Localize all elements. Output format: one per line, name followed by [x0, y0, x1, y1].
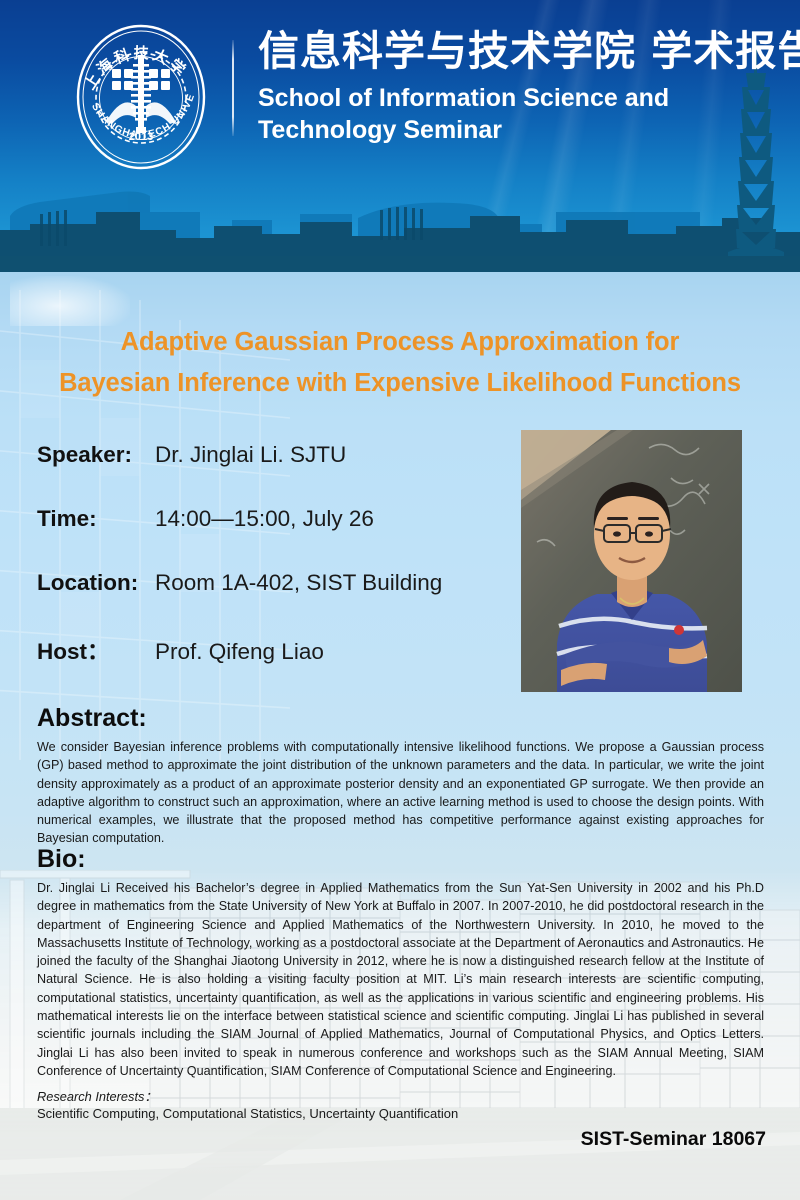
talk-info-list: Speaker: Dr. Jinglai Li. SJTU Time: 14:0… [37, 442, 507, 698]
talk-title-line2: Bayesian Inference with Expensive Likeli… [40, 363, 760, 404]
info-label-location: Location: [37, 570, 155, 596]
seminar-id-badge: SIST-Seminar 18067 [581, 1128, 766, 1151]
seminar-poster: 2013 上海科技大学 SHANGHAITECH UNIVERSITY 信息科学… [0, 0, 800, 1200]
info-value-time: 14:00—15:00, July 26 [155, 506, 374, 532]
poster-content: Adaptive Gaussian Process Approximation … [0, 0, 800, 1200]
speaker-photo [521, 430, 742, 692]
talk-title-line1: Adaptive Gaussian Process Approximation … [40, 322, 760, 363]
info-row-time: Time: 14:00—15:00, July 26 [37, 506, 507, 570]
talk-title: Adaptive Gaussian Process Approximation … [40, 322, 760, 404]
info-row-speaker: Speaker: Dr. Jinglai Li. SJTU [37, 442, 507, 506]
info-label-time: Time: [37, 506, 155, 532]
info-label-host: Host： [37, 634, 155, 666]
info-value-host: Prof. Qifeng Liao [155, 639, 324, 665]
info-row-host: Host： Prof. Qifeng Liao [37, 634, 507, 698]
research-interests-value: Scientific Computing, Computational Stat… [37, 1106, 458, 1121]
info-row-location: Location: Room 1A-402, SIST Building [37, 570, 507, 634]
research-interests-label: Research Interests： [37, 1086, 157, 1105]
info-label-speaker: Speaker: [37, 442, 155, 468]
info-value-speaker: Dr. Jinglai Li. SJTU [155, 442, 346, 468]
bio-text: Dr. Jinglai Li Received his Bachelor’s d… [37, 879, 764, 1080]
abstract-text: We consider Bayesian inference problems … [37, 738, 764, 848]
abstract-heading: Abstract: [37, 704, 147, 733]
info-value-location: Room 1A-402, SIST Building [155, 570, 442, 596]
bio-heading: Bio: [37, 845, 86, 874]
